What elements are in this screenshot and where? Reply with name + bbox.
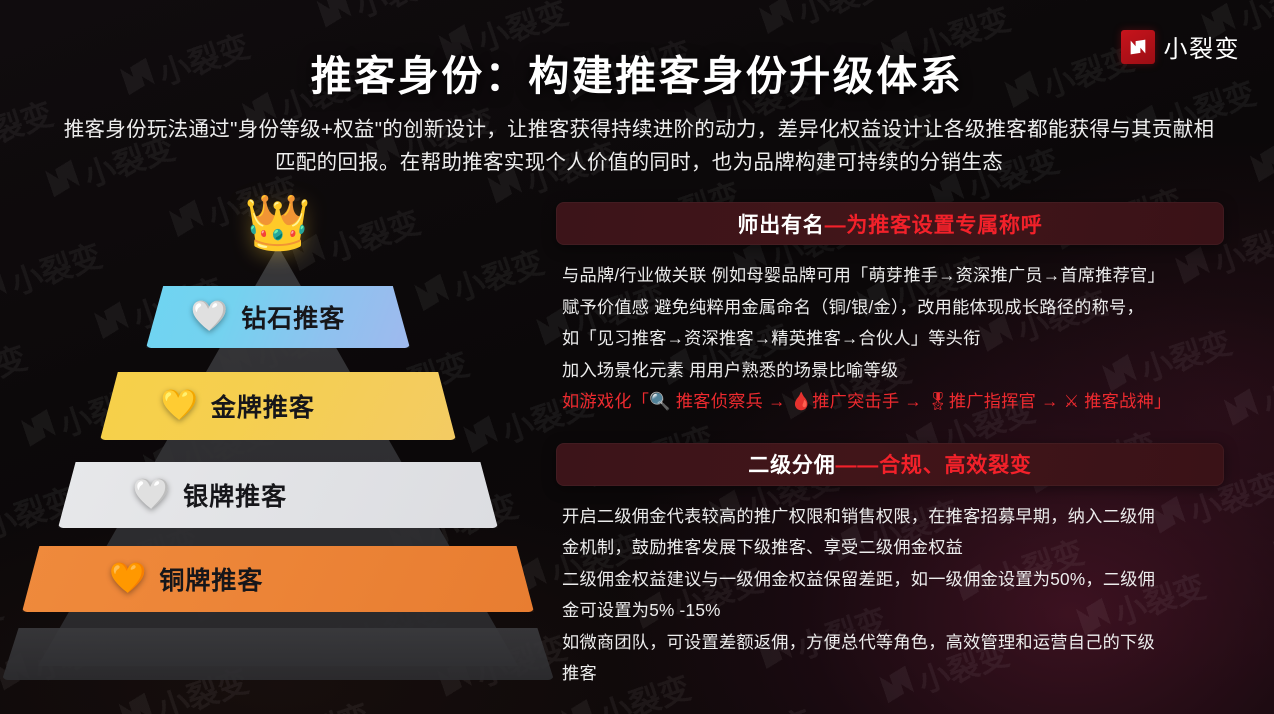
crown-icon-diamond: 🤍 [191, 302, 228, 332]
pyramid-tier-diamond[interactable]: 🤍 钻石推客 [146, 286, 410, 348]
section-title-white: 师出有名 [737, 209, 824, 239]
body-line: 如「见习推客→资深推客→精英推客→合伙人」等头衔 [562, 323, 1224, 355]
pyramid-base-plate [2, 628, 554, 680]
crown-icon-silver: 🤍 [133, 480, 170, 510]
pyramid-tier-gold[interactable]: 💛 金牌推客 [100, 372, 456, 440]
body-line: 赋予价值感 避免纯粹用金属命名（铜/银/金），改用能体现成长路径的称号， [562, 292, 1224, 324]
pyramid-tier-label: 银牌推客 [183, 477, 287, 513]
section-title-red: ——合规、高效裂变 [836, 449, 1032, 479]
pyramid-tier-label: 金牌推客 [211, 388, 315, 424]
tier-pyramid-diagram: 👑 🤍 钻石推客 💛 金牌推客 🤍 银牌推客 🧡 铜牌推客 [0, 196, 556, 666]
section-header-commission: 二级分佣——合规、高效裂变 [556, 443, 1224, 486]
section-body-naming: 与品牌/行业做关联 例如母婴品牌可用「萌芽推手→资深推广员→首席推荐官」 赋予价… [562, 260, 1224, 418]
body-line: 金机制，鼓励推客发展下级推客、享受二级佣金权益 [562, 532, 1224, 564]
page-subtitle: 推客身份玩法通过"身份等级+权益"的创新设计，让推客获得持续进阶的动力，差异化权… [62, 113, 1216, 179]
body-line-gamified-titles: 如游戏化「🔍 推客侦察兵 → 🩸推广突击手 → 🎖推广指挥官 → ⚔ 推客战神」 [562, 386, 1224, 418]
pyramid-tier-bronze[interactable]: 🧡 铜牌推客 [22, 546, 534, 612]
body-line: 加入场景化元素 用用户熟悉的场景比喻等级 [562, 355, 1224, 387]
body-line: 金可设置为5% -15% [562, 595, 1224, 627]
body-line: 开启二级佣金代表较高的推广权限和销售权限，在推客招募早期，纳入二级佣 [562, 501, 1224, 533]
body-line: 推客 [562, 658, 1224, 690]
pyramid-tier-label: 钻石推客 [241, 299, 345, 335]
crown-icon: 👑 [244, 196, 311, 250]
crown-icon-bronze: 🧡 [109, 564, 146, 594]
section-spacer [556, 418, 1224, 443]
slide-canvas: 小裂变 推客身份：构建推客身份升级体系 推客身份玩法通过"身份等级+权益"的创新… [0, 0, 1274, 714]
page-title: 推客身份：构建推客身份升级体系 [0, 42, 1274, 102]
section-title-white: 二级分佣 [748, 449, 835, 479]
body-line: 与品牌/行业做关联 例如母婴品牌可用「萌芽推手→资深推广员→首席推荐官」 [562, 260, 1224, 292]
body-line: 如微商团队，可设置差额返佣，方便总代等角色，高效管理和运营自己的下级 [562, 627, 1224, 659]
section-title-red: —为推客设置专属称呼 [825, 209, 1043, 239]
section-header-naming: 师出有名—为推客设置专属称呼 [556, 202, 1224, 245]
pyramid-tier-label: 铜牌推客 [159, 561, 263, 597]
content-panel: 师出有名—为推客设置专属称呼 与品牌/行业做关联 例如母婴品牌可用「萌芽推手→资… [556, 202, 1224, 690]
body-line: 二级佣金权益建议与一级佣金权益保留差距，如一级佣金设置为50%，二级佣 [562, 564, 1224, 596]
section-body-commission: 开启二级佣金代表较高的推广权限和销售权限，在推客招募早期，纳入二级佣 金机制，鼓… [562, 501, 1224, 690]
pyramid-tier-silver[interactable]: 🤍 银牌推客 [58, 462, 498, 528]
crown-icon-gold: 💛 [161, 391, 198, 421]
